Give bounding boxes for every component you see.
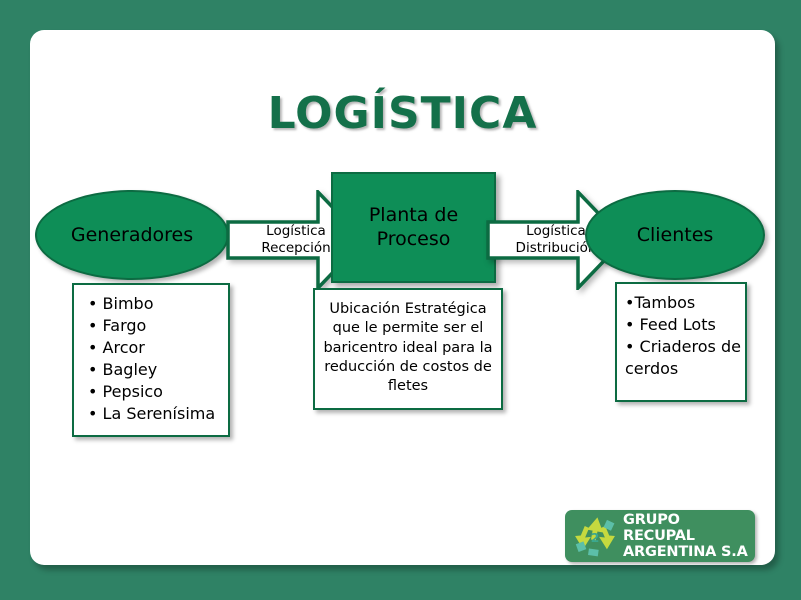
company-logo-text: GRUPO RECUPAL ARGENTINA S.A — [623, 512, 755, 561]
list-item: • Criaderos de cerdos — [625, 336, 745, 380]
list-generadores: • Bimbo • Fargo • Arcor • Bagley • Pepsi… — [72, 283, 230, 437]
company-logo: 2 GRUPO RECUPAL ARGENTINA S.A — [565, 510, 755, 562]
company-logo-line1: GRUPO RECUPAL — [623, 512, 755, 544]
node-planta-label: Planta de Proceso — [369, 204, 458, 252]
node-clientes[interactable]: Clientes — [585, 190, 765, 280]
list-item: • Arcor — [88, 337, 228, 359]
company-logo-line2: ARGENTINA S.A — [623, 544, 755, 560]
node-generadores[interactable]: Generadores — [35, 190, 229, 280]
list-item: • Fargo — [88, 315, 228, 337]
node-generadores-label: Generadores — [71, 224, 193, 246]
node-clientes-label: Clientes — [637, 224, 714, 246]
svg-text:2: 2 — [591, 531, 600, 545]
node-planta-de-proceso[interactable]: Planta de Proceso — [331, 172, 496, 283]
page-title: LOGÍSTICA — [30, 88, 775, 139]
list-item: • Bagley — [88, 359, 228, 381]
list-item: • La Serenísima — [88, 403, 228, 425]
node-planta-line1: Planta de — [369, 204, 458, 226]
list-item: • Bimbo — [88, 293, 228, 315]
list-item: • Pepsico — [88, 381, 228, 403]
list-clientes: •Tambos • Feed Lots • Criaderos de cerdo… — [615, 282, 747, 402]
recycle-icon: 2 — [569, 513, 621, 559]
list-item: •Tambos — [625, 292, 745, 314]
slide-panel: LOGÍSTICA Generadores Logística Recepció… — [30, 30, 775, 565]
node-planta-line2: Proceso — [377, 228, 451, 250]
note-planta-text: Ubicación Estratégica que le permite ser… — [323, 301, 492, 394]
note-planta-ubicacion: Ubicación Estratégica que le permite ser… — [313, 288, 503, 410]
list-item: • Feed Lots — [625, 314, 745, 336]
